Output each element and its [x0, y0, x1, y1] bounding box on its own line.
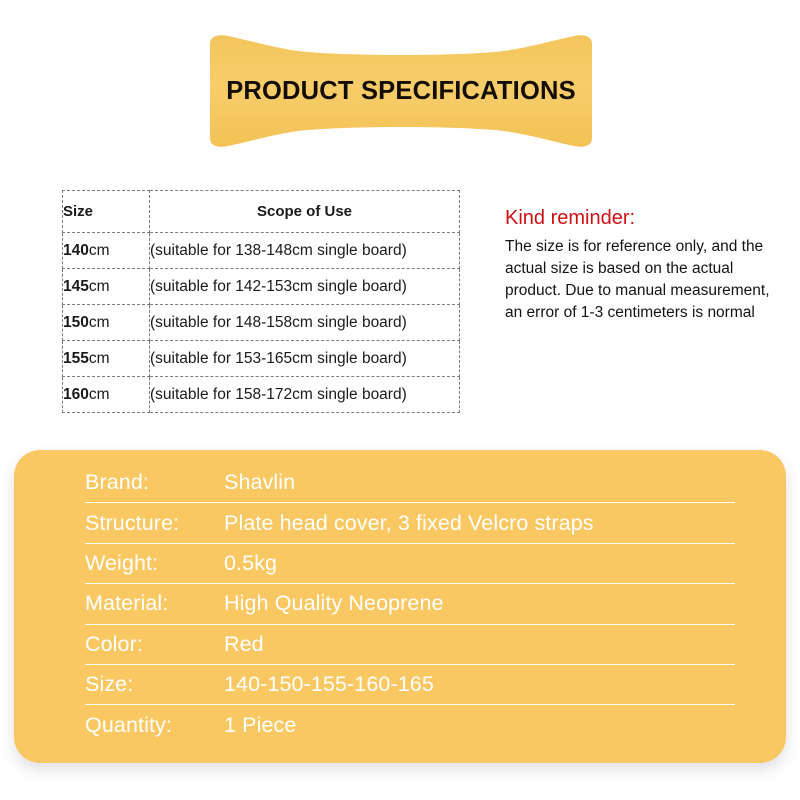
reminder-body: The size is for reference only, and the … — [505, 236, 790, 324]
cell-size: 150cm — [63, 305, 150, 341]
cell-size: 160cm — [63, 377, 150, 413]
spec-row: Color:Red — [85, 625, 735, 665]
spec-value: Shavlin — [224, 470, 295, 495]
spec-label: Weight: — [85, 551, 224, 576]
cell-size: 145cm — [63, 269, 150, 305]
size-number: 145 — [63, 278, 89, 295]
column-header-scope: Scope of Use — [150, 191, 460, 233]
spec-value: High Quality Neoprene — [224, 591, 444, 616]
page-title: PRODUCT SPECIFICATIONS — [196, 32, 606, 150]
size-unit: cm — [89, 314, 110, 331]
spec-label: Quantity: — [85, 713, 224, 738]
size-unit: cm — [89, 242, 110, 259]
kind-reminder-block: Kind reminder: The size is for reference… — [505, 206, 790, 324]
size-unit: cm — [89, 386, 110, 403]
spec-row: Size:140-150-155-160-165 — [85, 665, 735, 705]
spec-row: Quantity:1 Piece — [85, 705, 735, 744]
reminder-title: Kind reminder: — [505, 206, 790, 230]
cell-scope: (suitable for 158-172cm single board) — [150, 377, 460, 413]
size-scope-table: Size Scope of Use 140cm(suitable for 138… — [62, 190, 460, 413]
cell-scope: (suitable for 138-148cm single board) — [150, 233, 460, 269]
size-number: 160 — [63, 386, 89, 403]
size-unit: cm — [89, 350, 110, 367]
spec-row: Brand:Shavlin — [85, 463, 735, 503]
spec-value: 0.5kg — [224, 551, 277, 576]
spec-label: Size: — [85, 672, 224, 697]
product-specifications-banner: PRODUCT SPECIFICATIONS — [196, 32, 606, 150]
cell-scope: (suitable for 142-153cm single board) — [150, 269, 460, 305]
table-row: 155cm(suitable for 153-165cm single boar… — [63, 341, 460, 377]
spec-row: Structure:Plate head cover, 3 fixed Velc… — [85, 503, 735, 543]
spec-label: Color: — [85, 632, 224, 657]
spec-label: Structure: — [85, 511, 224, 536]
table-row: 160cm(suitable for 158-172cm single boar… — [63, 377, 460, 413]
column-header-size: Size — [63, 191, 150, 233]
size-number: 140 — [63, 242, 89, 259]
spec-row: Weight:0.5kg — [85, 544, 735, 584]
spec-value: 1 Piece — [224, 713, 296, 738]
table-row: 140cm(suitable for 138-148cm single boar… — [63, 233, 460, 269]
spec-value: Plate head cover, 3 fixed Velcro straps — [224, 511, 594, 536]
size-unit: cm — [89, 278, 110, 295]
specification-rows: Brand:ShavlinStructure:Plate head cover,… — [85, 463, 735, 745]
specification-panel: Brand:ShavlinStructure:Plate head cover,… — [14, 450, 786, 763]
table-body: 140cm(suitable for 138-148cm single boar… — [63, 233, 460, 413]
table-header-row: Size Scope of Use — [63, 191, 460, 233]
spec-value: 140-150-155-160-165 — [224, 672, 434, 697]
spec-label: Material: — [85, 591, 224, 616]
size-number: 150 — [63, 314, 89, 331]
cell-scope: (suitable for 148-158cm single board) — [150, 305, 460, 341]
size-number: 155 — [63, 350, 89, 367]
spec-value: Red — [224, 632, 264, 657]
cell-size: 155cm — [63, 341, 150, 377]
cell-size: 140cm — [63, 233, 150, 269]
cell-scope: (suitable for 153-165cm single board) — [150, 341, 460, 377]
table-row: 145cm(suitable for 142-153cm single boar… — [63, 269, 460, 305]
spec-row: Material:High Quality Neoprene — [85, 584, 735, 624]
table-row: 150cm(suitable for 148-158cm single boar… — [63, 305, 460, 341]
spec-label: Brand: — [85, 470, 224, 495]
